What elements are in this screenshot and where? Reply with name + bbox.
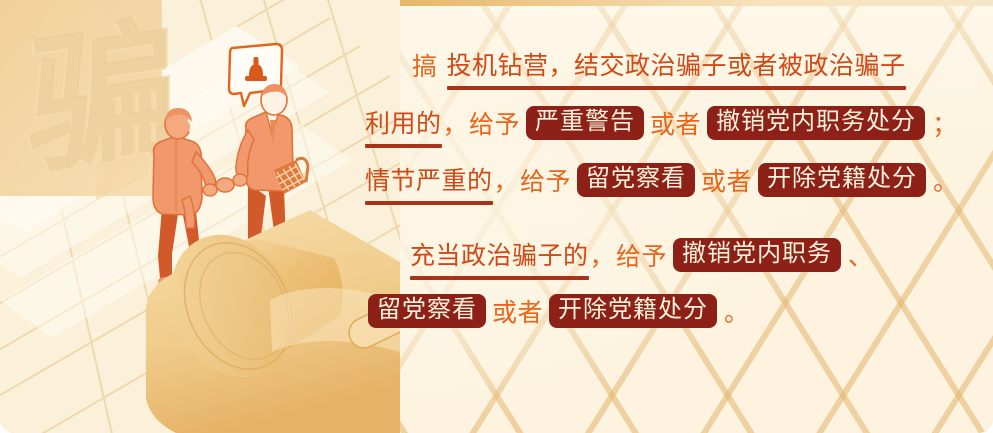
punctuation-mark: ，	[589, 237, 617, 273]
regulation-line-1: 搞投机钻营，结交政治骗子或者被政治骗子	[412, 46, 906, 84]
body-text: 或者	[492, 293, 543, 329]
underlined-conduct-phrase: 情节严重的	[365, 161, 493, 199]
penalty-badge: 开除党籍处分	[549, 294, 717, 329]
body-text: 或者	[701, 162, 752, 198]
underlined-conduct-phrase: 投机钻营，结交政治骗子或者被政治骗子	[447, 46, 906, 84]
underlined-conduct-phrase: 充当政治骗子的	[410, 236, 589, 274]
penalty-badge: 留党察看	[577, 163, 695, 198]
regulation-line-3: 情节严重的，给予留党察看或者开除党籍处分。	[365, 161, 960, 199]
regulation-line-4: 充当政治骗子的，给予撤销党内职务、	[410, 236, 875, 274]
punctuation-mark: 、	[847, 237, 875, 273]
punctuation-mark: 。	[723, 293, 751, 329]
punctuation-mark: ，	[442, 105, 470, 141]
handshake-icon	[216, 178, 234, 192]
poster-root: 骗 骗	[0, 0, 993, 433]
regulation-line-2: 利用的，给予严重警告或者撤销党内职务处分；	[365, 104, 959, 142]
regulation-line-5: 留党察看或者开除党籍处分。	[362, 293, 751, 329]
punctuation-mark: ，	[493, 162, 521, 198]
body-text: 给予	[469, 105, 520, 141]
penalty-badge: 开除党籍处分	[758, 163, 926, 198]
penalty-badge: 撤销党内职务处分	[707, 106, 925, 141]
penalty-badge: 严重警告	[526, 106, 644, 141]
body-text: 搞	[412, 47, 438, 83]
body-text: 给予	[616, 237, 667, 273]
punctuation-mark: ；	[931, 105, 959, 141]
body-text: 或者	[650, 105, 701, 141]
punctuation-mark: 。	[932, 162, 960, 198]
penalty-badge: 撤销党内职务	[673, 238, 841, 273]
underlined-conduct-phrase: 利用的	[365, 104, 442, 142]
text-column: 搞投机钻营，结交政治骗子或者被政治骗子 利用的，给予严重警告或者撤销党内职务处分…	[340, 0, 993, 433]
penalty-badge: 留党察看	[368, 294, 486, 329]
body-text: 给予	[520, 162, 571, 198]
